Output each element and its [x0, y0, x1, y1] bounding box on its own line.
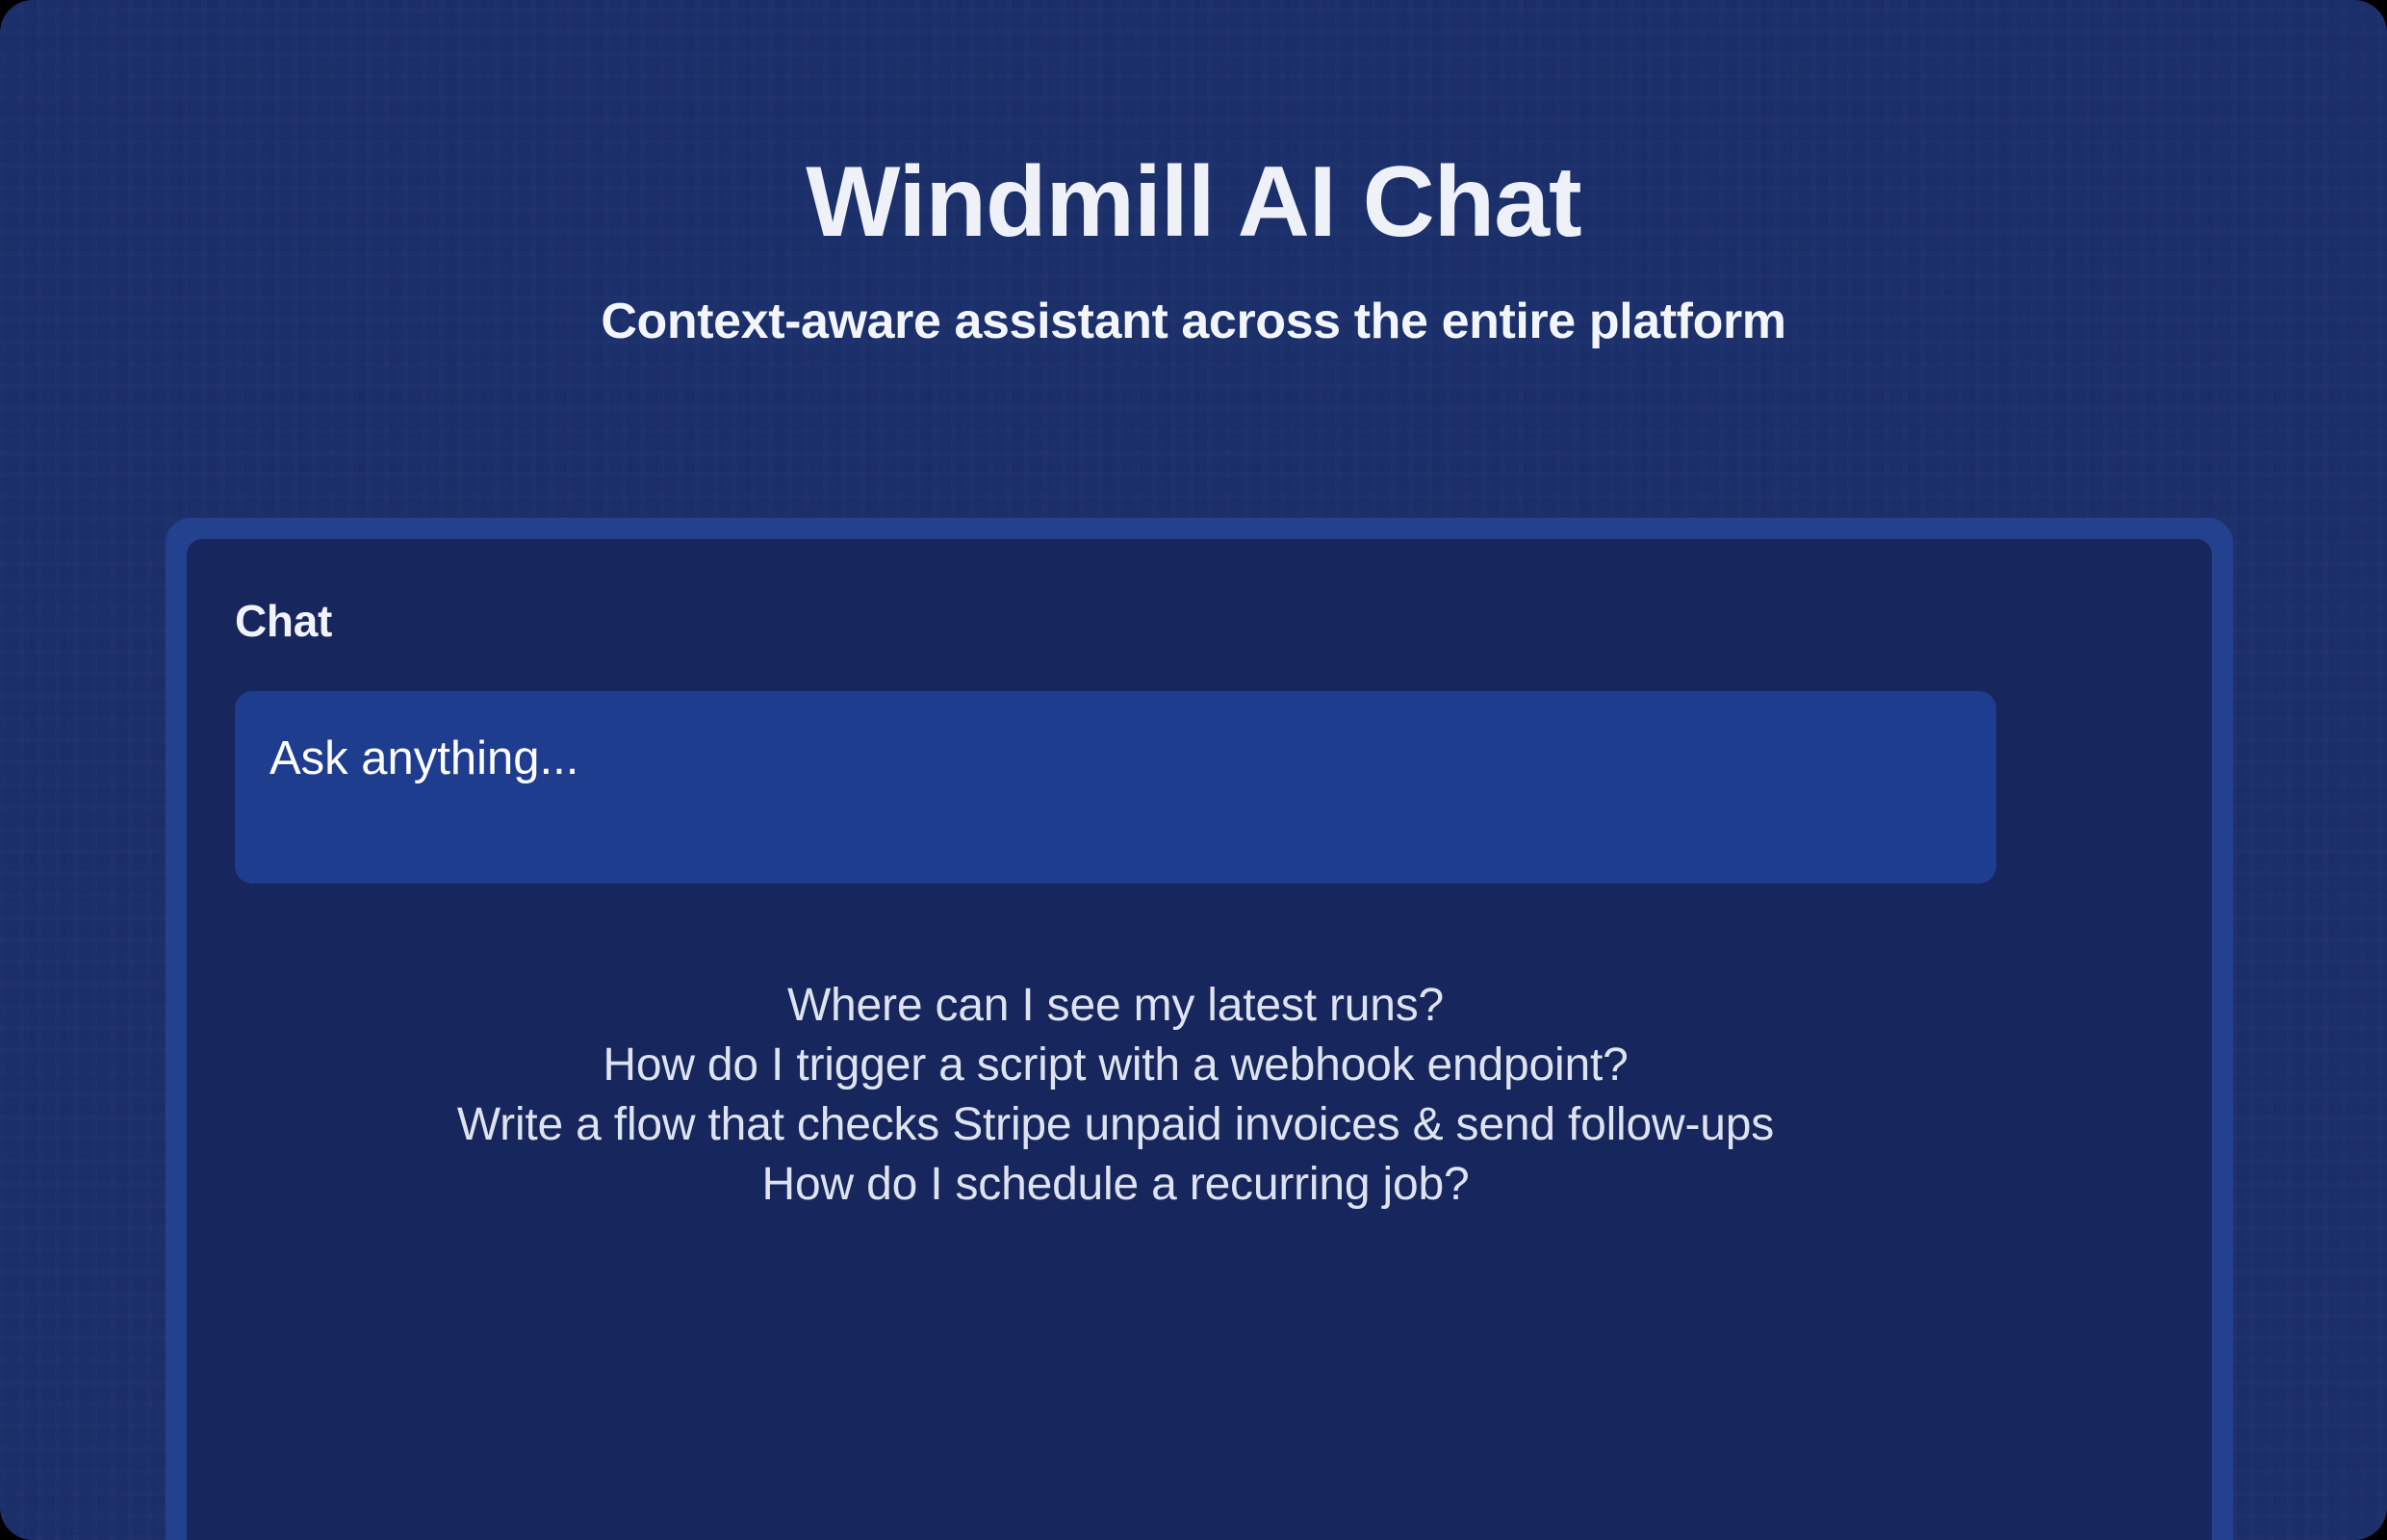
chat-panel: Chat Where can I see my latest runs? How… — [187, 539, 2212, 1540]
suggestion-item[interactable]: Where can I see my latest runs? — [235, 976, 1996, 1036]
chat-card: Chat Where can I see my latest runs? How… — [166, 518, 2233, 1540]
chat-input[interactable] — [235, 691, 1996, 884]
app-root: Windmill AI Chat Context-aware assistant… — [0, 0, 2387, 1540]
suggestion-item[interactable]: How do I schedule a recurring job? — [235, 1155, 1996, 1215]
suggestion-list: Where can I see my latest runs? How do I… — [235, 976, 1996, 1215]
page-title: Windmill AI Chat — [0, 0, 2387, 252]
suggestion-item[interactable]: How do I trigger a script with a webhook… — [235, 1036, 1996, 1095]
chat-section-heading: Chat — [235, 599, 2164, 643]
suggestion-item[interactable]: Write a flow that checks Stripe unpaid i… — [235, 1095, 1996, 1155]
page-subtitle: Context-aware assistant across the entir… — [0, 252, 2387, 346]
hero-header: Windmill AI Chat Context-aware assistant… — [0, 0, 2387, 346]
